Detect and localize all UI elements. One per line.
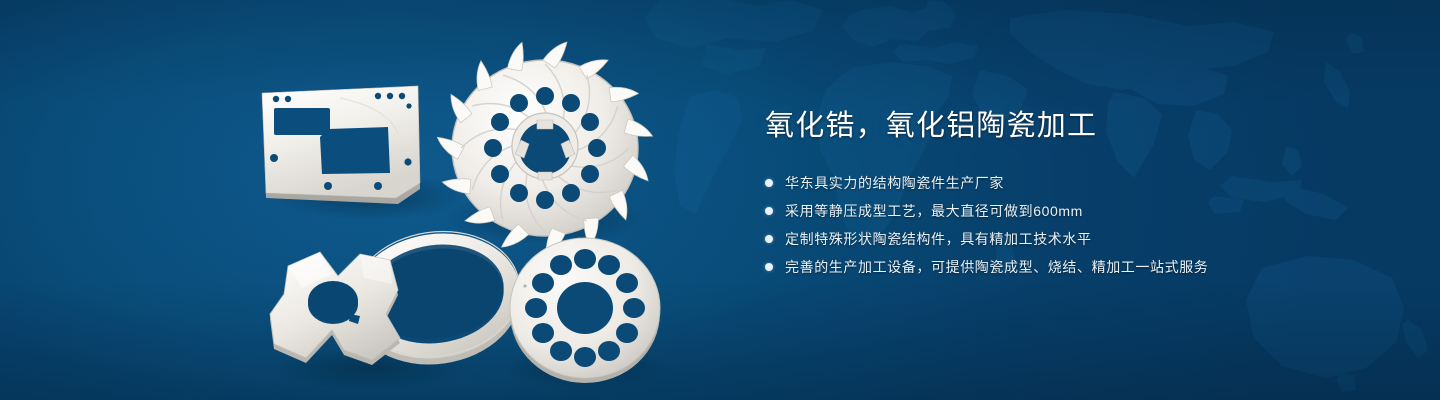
feature-text: 采用等静压成型工艺，最大直径可做到600mm	[785, 201, 1083, 221]
list-item: 采用等静压成型工艺，最大直径可做到600mm	[765, 199, 1385, 223]
feature-text: 华东具实力的结构陶瓷件生产厂家	[785, 173, 1004, 193]
hero-banner: 氧化锆，氧化铝陶瓷加工 华东具实力的结构陶瓷件生产厂家 采用等静压成型工艺，最大…	[0, 0, 1440, 400]
ceramic-products-photo	[240, 38, 670, 383]
feature-text: 定制特殊形状陶瓷结构件，具有精加工技术水平	[785, 229, 1092, 249]
bullet-dot-icon	[765, 263, 773, 271]
ceramic-machined-plate	[262, 86, 420, 204]
list-item: 华东具实力的结构陶瓷件生产厂家	[765, 171, 1385, 195]
bullet-dot-icon	[765, 235, 773, 243]
page-title: 氧化锆，氧化铝陶瓷加工	[765, 108, 1385, 145]
list-item: 定制特殊形状陶瓷结构件，具有精加工技术水平	[765, 227, 1385, 251]
bullet-dot-icon	[765, 207, 773, 215]
feature-text: 完善的生产加工设备，可提供陶瓷成型、烧结、精加工一站式服务	[785, 257, 1208, 277]
bullet-dot-icon	[765, 179, 773, 187]
list-item: 完善的生产加工设备，可提供陶瓷成型、烧结、精加工一站式服务	[765, 255, 1385, 279]
ceramic-perforated-ring-disc	[510, 238, 660, 383]
feature-list: 华东具实力的结构陶瓷件生产厂家 采用等静压成型工艺，最大直径可做到600mm 定…	[765, 171, 1385, 279]
banner-copy: 氧化锆，氧化铝陶瓷加工 华东具实力的结构陶瓷件生产厂家 采用等静压成型工艺，最大…	[765, 108, 1385, 283]
